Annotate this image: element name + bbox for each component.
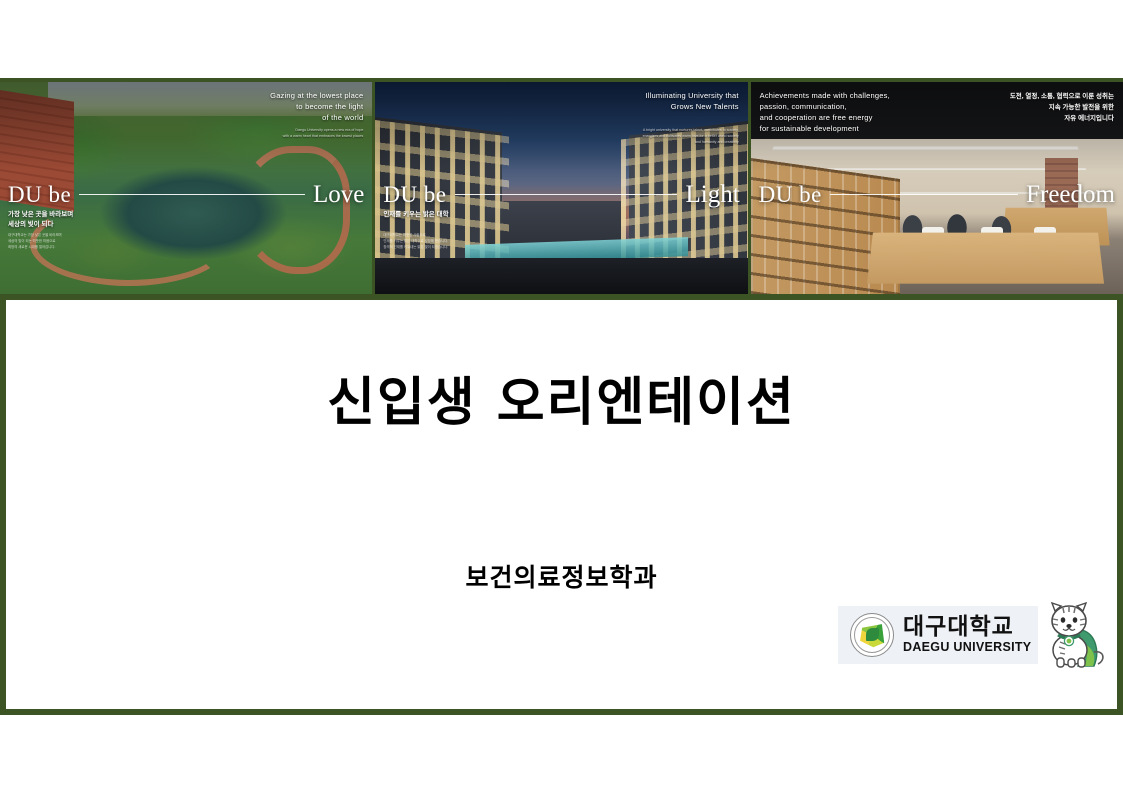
department-subtitle: 보건의료정보학과 — [6, 558, 1117, 594]
panel-english-headline: Gazing at the lowest place to become the… — [270, 91, 363, 124]
brand-line: DU be Light — [375, 178, 747, 210]
university-logo-block: 대구대학교 DAEGU UNIVERSITY — [838, 606, 1038, 664]
logo-name-english: DAEGU UNIVERSITY — [903, 640, 1031, 655]
brand-rule — [830, 194, 1018, 195]
brand-mark-dube: DU be — [8, 183, 71, 206]
panel-english-caption: Daegu University opens a new era of hope… — [283, 128, 364, 140]
banner-panel-light: Illuminating University that Grows New T… — [375, 82, 750, 294]
banner-panel-freedom: Achievements made with challenges, passi… — [751, 82, 1123, 294]
white-tiger-mascot-icon — [1038, 600, 1112, 675]
logo-name-korean: 대구대학교 — [903, 615, 1031, 639]
panel-korean-headline: 도전, 열정, 소통, 협력으로 이룬 성취는 지속 가능한 발전을 위한 자유… — [1010, 91, 1114, 124]
brand-rule — [79, 194, 305, 195]
brand-mark-dube: DU be — [383, 183, 446, 206]
brand-keyword-love: Love — [313, 182, 364, 207]
slide-content-card: 신입생 오리엔테이션 보건의료정보학과 대구대학교 DAEGU UNIVERSI… — [6, 300, 1117, 709]
panel-english-headline: Illuminating University that Grows New T… — [646, 91, 739, 113]
brand-line: DU be Love — [0, 178, 372, 210]
brand-mark-dube: DU be — [759, 183, 822, 206]
banner-panel-love: Gazing at the lowest place to become the… — [0, 82, 375, 294]
seal-emblem-inner — [866, 628, 879, 641]
logo-wordmark: 대구대학교 DAEGU UNIVERSITY — [903, 615, 1031, 655]
university-seal-icon — [850, 613, 894, 657]
brand-line: DU be Freedom — [751, 178, 1123, 210]
presentation-slide: Gazing at the lowest place to become the… — [0, 0, 1123, 794]
brand-keyword-light: Light — [685, 182, 739, 207]
panel-korean-caption: 대구대학교는 따뜻한 사랑으로 인재를 키우는 밝은 대학으로 성장해 왔습니다… — [383, 232, 448, 250]
panel-english-caption: A bright university that nurtures talent… — [643, 128, 739, 145]
panel-korean-caption: 대구대학교는 가장 낮은 곳을 바라보며 세상의 빛이 되는 따뜻한 마음으로 … — [8, 232, 62, 250]
panel-korean-headline: 가장 낮은 곳을 바라보며 세상의 빛이 되다 — [8, 210, 73, 231]
brand-keyword-freedom: Freedom — [1026, 182, 1115, 207]
brand-rule — [455, 194, 678, 195]
study-table — [867, 233, 1104, 284]
green-frame: 신입생 오리엔테이션 보건의료정보학과 대구대학교 DAEGU UNIVERSI… — [0, 294, 1123, 715]
banner-strip: Gazing at the lowest place to become the… — [0, 78, 1123, 294]
ground-plaza — [375, 258, 747, 294]
panel-english-headline: Achievements made with challenges, passi… — [760, 91, 890, 135]
page-title: 신입생 오리엔테이션 — [6, 360, 1117, 435]
panel-korean-headline: 인재를 키우는 밝은 대학 — [383, 210, 448, 220]
